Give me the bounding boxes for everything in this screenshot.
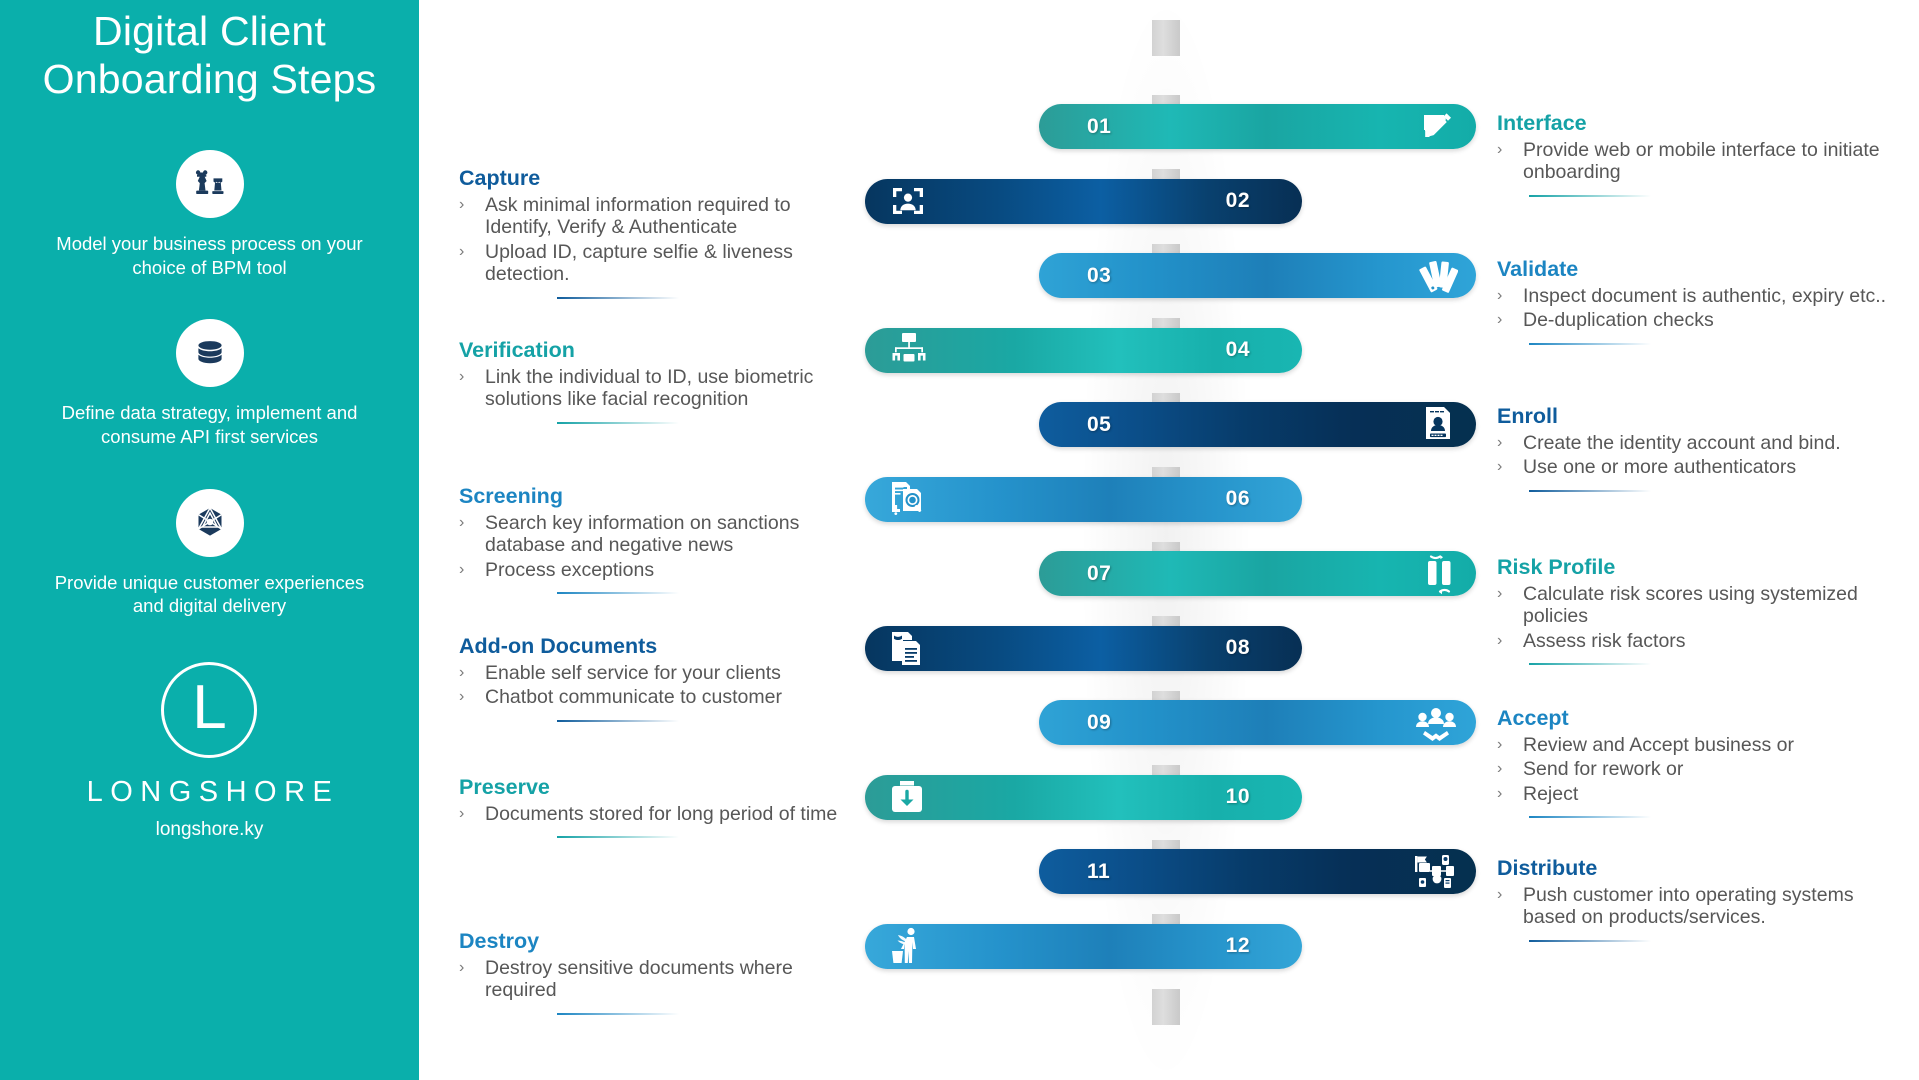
step-number: 03 <box>1087 264 1111 288</box>
text-block-add-on-documents: Add-on Documents›Enable self service for… <box>459 635 851 722</box>
bullet-item: ›Send for rework or <box>1497 758 1897 781</box>
block-divider <box>1529 195 1651 197</box>
step-number: 10 <box>1226 785 1250 809</box>
text-block-risk-profile: Risk Profile›Calculate risk scores using… <box>1497 556 1897 665</box>
bullet-text: Destroy sensitive documents where requir… <box>485 957 851 1002</box>
chevron-right-icon: › <box>1497 432 1523 454</box>
shred-destroy-icon <box>887 925 931 967</box>
bullet-item: ›Ask minimal information required to Ide… <box>459 194 851 239</box>
text-block-capture: Capture›Ask minimal information required… <box>459 167 851 299</box>
text-block-accept: Accept›Review and Accept business or›Sen… <box>1497 707 1897 818</box>
text-block-validate: Validate›Inspect document is authentic, … <box>1497 258 1897 345</box>
block-bullet-list: ›Review and Accept business or›Send for … <box>1497 734 1897 806</box>
chevron-right-icon: › <box>1497 139 1523 161</box>
chevron-right-icon: › <box>459 662 485 684</box>
block-bullet-list: ›Inspect document is authentic, expiry e… <box>1497 285 1897 332</box>
block-divider <box>1529 940 1651 942</box>
bullet-text: Assess risk factors <box>1523 630 1897 653</box>
bullet-text: Use one or more authenticators <box>1523 456 1897 479</box>
block-divider <box>557 422 679 424</box>
bullet-text: Process exceptions <box>485 559 851 582</box>
block-bullet-list: ›Push customer into operating systems ba… <box>1497 884 1897 929</box>
bullet-item: ›Review and Accept business or <box>1497 734 1897 757</box>
step-number: 02 <box>1226 189 1250 213</box>
step-bar-08[interactable]: 08 <box>865 626 1302 671</box>
text-block-screening: Screening›Search key information on sanc… <box>459 485 851 594</box>
bullet-text: Ask minimal information required to Iden… <box>485 194 851 239</box>
text-block-verification: Verification›Link the individual to ID, … <box>459 339 851 424</box>
chevron-right-icon: › <box>459 686 485 708</box>
block-bullet-list: ›Search key information on sanctions dat… <box>459 512 851 582</box>
bullet-item: ›Upload ID, capture selfie & liveness de… <box>459 241 851 286</box>
bullet-text: Link the individual to ID, use biometric… <box>485 366 851 411</box>
bullet-item: ›Process exceptions <box>459 559 851 582</box>
bullet-item: ›Enable self service for your clients <box>459 662 851 685</box>
step-number: 09 <box>1087 711 1111 735</box>
block-divider <box>1529 816 1651 818</box>
text-block-enroll: Enroll›Create the identity account and b… <box>1497 405 1897 492</box>
chevron-right-icon: › <box>1497 456 1523 478</box>
bullet-item: ›Assess risk factors <box>1497 630 1897 653</box>
step-number: 05 <box>1087 413 1111 437</box>
chevron-right-icon: › <box>459 366 485 388</box>
block-divider <box>1529 490 1651 492</box>
block-bullet-list: ›Enable self service for your clients›Ch… <box>459 662 851 709</box>
block-title: Distribute <box>1497 857 1897 881</box>
chevron-right-icon: › <box>1497 783 1523 805</box>
document-fan-icon <box>1416 255 1458 297</box>
bullet-text: Create the identity account and bind. <box>1523 432 1897 455</box>
text-block-interface: Interface›Provide web or mobile interfac… <box>1497 112 1897 197</box>
block-divider <box>557 1013 679 1015</box>
chevron-right-icon: › <box>1497 884 1523 906</box>
step-number: 12 <box>1226 934 1250 958</box>
step-number: 01 <box>1087 115 1111 139</box>
block-bullet-list: ›Destroy sensitive documents where requi… <box>459 957 851 1002</box>
step-bar-11[interactable]: 11 <box>1039 849 1476 894</box>
bullet-text: Reject <box>1523 783 1897 806</box>
bullet-item: ›Create the identity account and bind. <box>1497 432 1897 455</box>
bullet-text: Chatbot communicate to customer <box>485 686 851 709</box>
text-block-destroy: Destroy›Destroy sensitive documents wher… <box>459 930 851 1015</box>
chevron-right-icon: › <box>1497 734 1523 756</box>
bullet-item: ›Search key information on sanctions dat… <box>459 512 851 557</box>
block-title: Accept <box>1497 707 1897 731</box>
bullet-item: ›Reject <box>1497 783 1897 806</box>
chevron-right-icon: › <box>1497 285 1523 307</box>
chevron-right-icon: › <box>459 194 485 216</box>
bullet-text: Push customer into operating systems bas… <box>1523 884 1897 929</box>
bullet-text: Search key information on sanctions data… <box>485 512 851 557</box>
block-bullet-list: ›Calculate risk scores using systemized … <box>1497 583 1897 653</box>
bullet-text: Calculate risk scores using systemized p… <box>1523 583 1897 628</box>
step-bar-10[interactable]: 10 <box>865 775 1302 820</box>
bullet-text: Review and Accept business or <box>1523 734 1897 757</box>
chevron-right-icon: › <box>459 803 485 825</box>
face-capture-icon <box>887 180 929 222</box>
bullet-item: ›Push customer into operating systems ba… <box>1497 884 1897 929</box>
step-bar-04[interactable]: 04 <box>865 328 1302 373</box>
text-block-preserve: Preserve›Documents stored for long perio… <box>459 776 851 838</box>
step-number: 11 <box>1087 860 1110 884</box>
documents-stack-icon <box>887 627 929 669</box>
handshake-icon <box>1414 703 1458 743</box>
bullet-text: De-duplication checks <box>1523 309 1897 332</box>
infographic-page: Digital Client Onboarding Steps Model yo… <box>0 0 1919 1080</box>
archive-download-icon <box>887 776 927 818</box>
bullet-item: ›Destroy sensitive documents where requi… <box>459 957 851 1002</box>
step-bar-02[interactable]: 02 <box>865 179 1302 224</box>
document-search-icon <box>887 478 931 520</box>
block-title: Capture <box>459 167 851 191</box>
biometric-network-icon <box>887 330 931 370</box>
step-bar-05[interactable]: 05 <box>1039 402 1476 447</box>
risk-gauge-icon <box>1422 552 1458 596</box>
bullet-text: Documents stored for long period of time <box>485 803 851 826</box>
chevron-right-icon: › <box>1497 309 1523 331</box>
block-title: Enroll <box>1497 405 1897 429</box>
bullet-item: ›Calculate risk scores using systemized … <box>1497 583 1897 628</box>
block-bullet-list: ›Link the individual to ID, use biometri… <box>459 366 851 411</box>
block-divider <box>1529 663 1651 665</box>
block-bullet-list: ›Documents stored for long period of tim… <box>459 803 851 826</box>
bullet-item: ›De-duplication checks <box>1497 309 1897 332</box>
block-bullet-list: ›Create the identity account and bind.›U… <box>1497 432 1897 479</box>
text-block-distribute: Distribute›Push customer into operating … <box>1497 857 1897 942</box>
bullet-text: Enable self service for your clients <box>485 662 851 685</box>
block-divider <box>1529 343 1651 345</box>
chevron-right-icon: › <box>1497 630 1523 652</box>
bullet-item: ›Chatbot communicate to customer <box>459 686 851 709</box>
block-title: Screening <box>459 485 851 509</box>
chevron-right-icon: › <box>459 559 485 581</box>
distribute-systems-icon <box>1412 852 1458 892</box>
bullet-text: Provide web or mobile interface to initi… <box>1523 139 1897 184</box>
block-bullet-list: ›Ask minimal information required to Ide… <box>459 194 851 286</box>
step-number: 06 <box>1226 487 1250 511</box>
id-enroll-icon <box>1418 404 1458 446</box>
step-bar-12[interactable]: 12 <box>865 924 1302 969</box>
block-title: Verification <box>459 339 851 363</box>
block-title: Interface <box>1497 112 1897 136</box>
block-title: Preserve <box>459 776 851 800</box>
chevron-right-icon: › <box>1497 758 1523 780</box>
step-number: 04 <box>1226 338 1250 362</box>
bullet-item: ›Inspect document is authentic, expiry e… <box>1497 285 1897 308</box>
chevron-right-icon: › <box>1497 583 1523 605</box>
step-bar-01[interactable]: 01 <box>1039 104 1476 149</box>
bullet-item: ›Use one or more authenticators <box>1497 456 1897 479</box>
bullet-item: ›Documents stored for long period of tim… <box>459 803 851 826</box>
block-title: Validate <box>1497 258 1897 282</box>
edit-form-icon <box>1418 107 1458 147</box>
bullet-text: Inspect document is authentic, expiry et… <box>1523 285 1897 308</box>
step-bar-03[interactable]: 03 <box>1039 253 1476 298</box>
block-divider <box>557 297 679 299</box>
bullet-text: Upload ID, capture selfie & liveness det… <box>485 241 851 286</box>
step-number: 07 <box>1087 562 1111 586</box>
bullet-item: ›Link the individual to ID, use biometri… <box>459 366 851 411</box>
step-bar-06[interactable]: 06 <box>865 477 1302 522</box>
step-bar-09[interactable]: 09 <box>1039 700 1476 745</box>
block-title: Destroy <box>459 930 851 954</box>
block-title: Add-on Documents <box>459 635 851 659</box>
block-bullet-list: ›Provide web or mobile interface to init… <box>1497 139 1897 184</box>
block-title: Risk Profile <box>1497 556 1897 580</box>
chevron-right-icon: › <box>459 957 485 979</box>
step-bar-07[interactable]: 07 <box>1039 551 1476 596</box>
block-divider <box>557 592 679 594</box>
bullet-text: Send for rework or <box>1523 758 1897 781</box>
step-number: 08 <box>1226 636 1250 660</box>
chevron-right-icon: › <box>459 512 485 534</box>
block-divider <box>557 836 679 838</box>
chevron-right-icon: › <box>459 241 485 263</box>
bullet-item: ›Provide web or mobile interface to init… <box>1497 139 1897 184</box>
block-divider <box>557 720 679 722</box>
